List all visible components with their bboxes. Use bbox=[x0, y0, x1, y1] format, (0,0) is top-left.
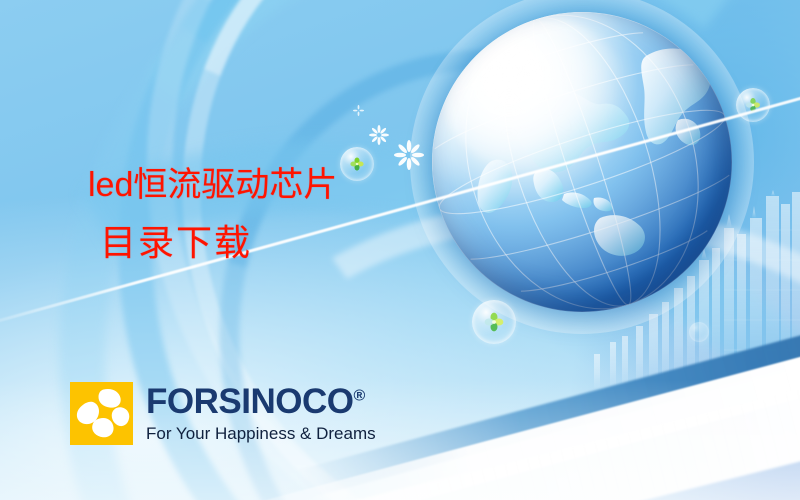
company-logo[interactable]: FORSINOCO® For Your Happiness & Dreams bbox=[70, 382, 376, 445]
globe-rim-shadow bbox=[432, 12, 732, 312]
bubble-pinwheel-center bbox=[472, 300, 516, 344]
forsinoco-pinwheel-mark bbox=[70, 382, 133, 445]
earth-globe-graphic bbox=[432, 12, 732, 312]
mini-pinwheel-icon bbox=[745, 97, 761, 113]
mini-pinwheel-icon bbox=[350, 157, 365, 172]
bubble-faint-right bbox=[689, 322, 709, 342]
bubble-pinwheel-upper-right bbox=[736, 88, 770, 122]
logo-tagline: For Your Happiness & Dreams bbox=[146, 425, 376, 442]
logo-wordmark: FORSINOCO® bbox=[146, 384, 376, 419]
bubble-pinwheel-left bbox=[340, 147, 374, 181]
presentation-slide: led恒流驱动芯片 目录下载 FORSINOCO® For Your Happi… bbox=[0, 0, 800, 500]
headline-latin-text: led bbox=[88, 166, 133, 204]
logo-text-lockup: FORSINOCO® For Your Happiness & Dreams bbox=[146, 382, 376, 442]
headline-line-2: 目录下载 bbox=[100, 223, 337, 263]
headline-line-1: led恒流驱动芯片 bbox=[88, 166, 337, 205]
headline-cjk-text: 恒流驱动芯片 bbox=[133, 167, 337, 204]
pinwheel-petals-icon bbox=[70, 382, 133, 445]
registered-trademark-symbol: ® bbox=[353, 387, 365, 404]
headline-block: led恒流驱动芯片 目录下载 bbox=[88, 166, 337, 263]
mini-pinwheel-icon bbox=[484, 312, 505, 333]
globe-sphere bbox=[432, 12, 732, 312]
logo-wordmark-text: FORSINOCO bbox=[146, 382, 353, 421]
